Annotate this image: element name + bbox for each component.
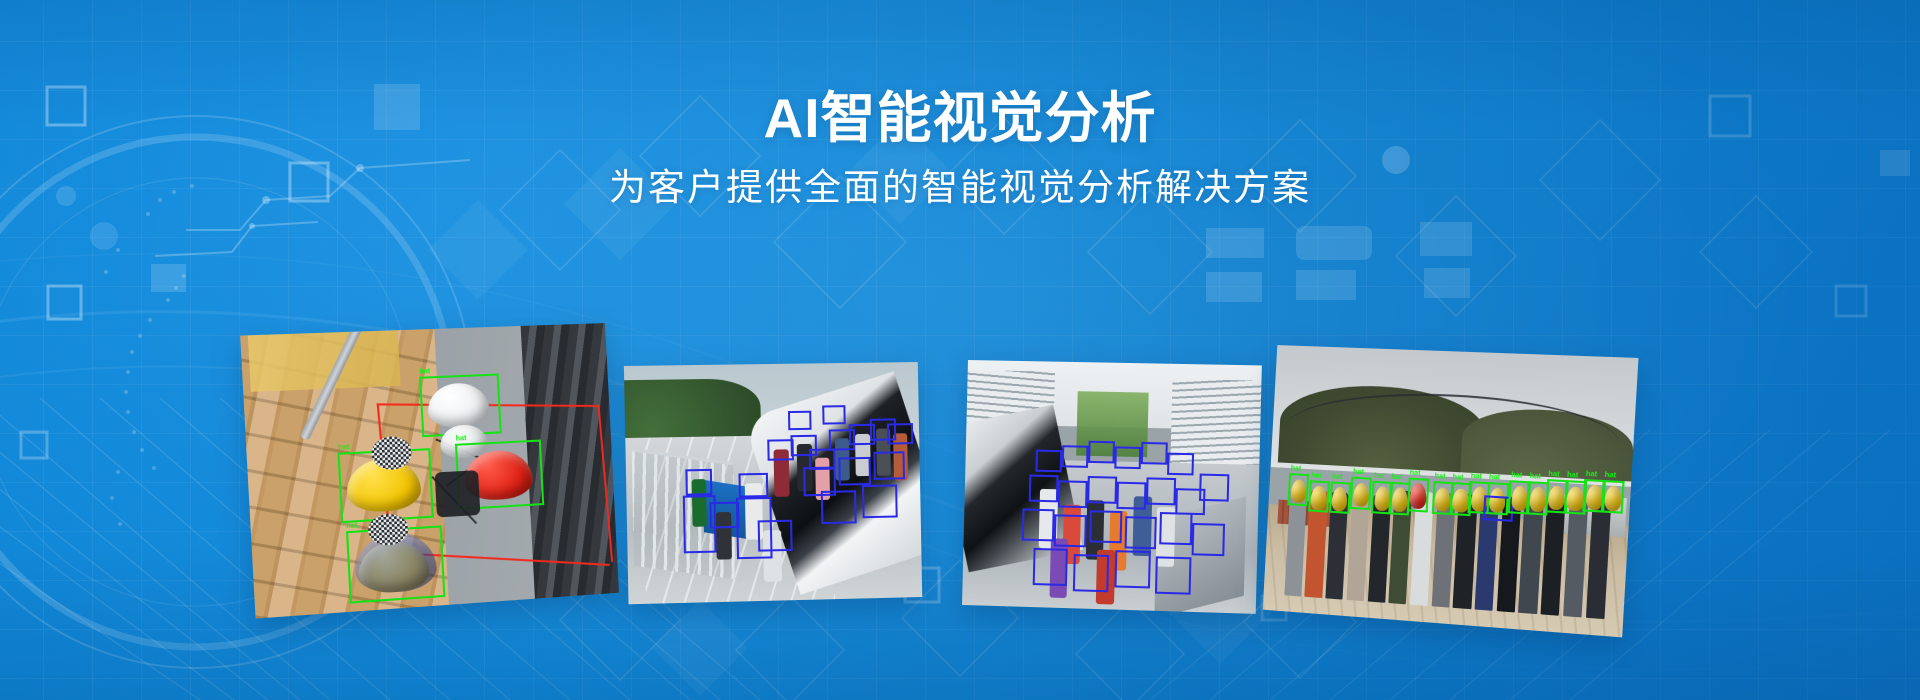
detection-label: hat (1391, 472, 1402, 482)
detection-label: hat (1353, 468, 1364, 478)
detection-label: hat (1604, 470, 1616, 480)
detection-box-person (739, 473, 769, 497)
detection-box-hat: hat (1288, 473, 1310, 506)
detection-label: hat (1489, 472, 1501, 482)
detection-box-person (1155, 556, 1191, 594)
detection-box-hat: hat (1350, 477, 1372, 510)
banner-text-block: AI智能视觉分析 为客户提供全面的智能视觉分析解决方案 (0, 0, 1920, 210)
ai-vision-hero-banner: AI智能视觉分析 为客户提供全面的智能视觉分析解决方案 (0, 0, 1920, 700)
detection-box-person (1199, 473, 1229, 501)
detection-box-person (1192, 523, 1225, 556)
detection-label: hat (346, 521, 358, 531)
gallery-card-station-walkway-crowd[interactable] (962, 360, 1262, 614)
detection-box-person (887, 423, 914, 445)
gallery-card-pedestrian-bridge-crowd[interactable] (624, 362, 922, 604)
detection-label: hat (1409, 468, 1420, 478)
banner-subtitle: 为客户提供全面的智能视觉分析解决方案 (0, 150, 1920, 210)
detection-box-person (1087, 476, 1117, 504)
detection-label: hat (338, 443, 350, 453)
detection-label: hat (1434, 472, 1445, 482)
detection-label: hat (1567, 471, 1579, 481)
banner-title: AI智能视觉分析 (0, 0, 1920, 150)
detection-box-hat: hat (1407, 477, 1430, 512)
card-image-warehouse: hat hat hat hat (240, 323, 619, 619)
detection-box-person (757, 520, 793, 552)
detection-box-person (1114, 550, 1150, 588)
detection-label: hat (1548, 470, 1560, 480)
detection-box-person (1032, 548, 1068, 586)
detection-label: hat (1332, 472, 1343, 482)
detection-box-person (873, 452, 905, 481)
detection-label: hat (1452, 473, 1464, 483)
detection-box-person (1089, 510, 1122, 543)
scene-station-walkway (962, 360, 1262, 614)
detection-label: hat (419, 367, 430, 377)
worker-dark-clothing (435, 471, 481, 517)
detection-box-person (1167, 453, 1194, 476)
card-image-construction: hat hat hat hat hat hat (1263, 345, 1639, 637)
detection-box-person (823, 405, 847, 424)
detection-box-person (685, 469, 712, 496)
detection-box-person (1114, 447, 1141, 470)
detection-label: hat (1585, 469, 1597, 479)
detection-box-person (1124, 516, 1157, 549)
detection-box-person (787, 411, 811, 430)
detection-box-person (1146, 477, 1176, 505)
detection-box-hat: hat (1601, 480, 1625, 515)
detection-box-person (710, 502, 740, 529)
detection-box-person (862, 485, 898, 519)
detection-label: hat (1374, 472, 1385, 482)
detection-label: hat (1471, 471, 1483, 481)
scene-pedestrian-bridge (624, 362, 922, 604)
scene-construction-site: hat hat hat hat hat hat (1263, 345, 1639, 637)
detection-label: hat (1311, 471, 1322, 481)
scene-warehouse-overhead: hat hat hat hat (240, 323, 619, 619)
detection-box-person (1061, 445, 1088, 468)
detection-box-person (1028, 474, 1058, 502)
detection-label: hat (1529, 472, 1541, 482)
detection-box-person (1116, 481, 1146, 509)
detection-box-hat: hat (1329, 481, 1351, 514)
detection-box-person (1088, 441, 1115, 464)
detection-box-person (1022, 508, 1055, 541)
detection-box-hat: hat (1308, 480, 1330, 513)
detection-label: hat (1290, 464, 1301, 474)
detection-box-person (1073, 554, 1109, 592)
gallery-card-construction-hardhat-detection[interactable]: hat hat hat hat hat hat (1263, 345, 1639, 637)
detection-box-person (1141, 442, 1168, 465)
card-image-station (962, 360, 1262, 614)
detection-box-person (1159, 512, 1192, 545)
yellow-pallet-strip (248, 330, 401, 392)
detection-box-person (821, 490, 857, 524)
detection-box-person (1035, 450, 1062, 473)
detection-box-person (1054, 514, 1087, 547)
detection-box-person (838, 457, 871, 486)
detection-label: hat (455, 434, 466, 444)
detection-box-person (1058, 480, 1088, 508)
gallery-card-warehouse-helmet-detection[interactable]: hat hat hat hat (240, 323, 619, 619)
detection-label: hat (1511, 471, 1523, 481)
card-image-bridge (624, 362, 922, 604)
